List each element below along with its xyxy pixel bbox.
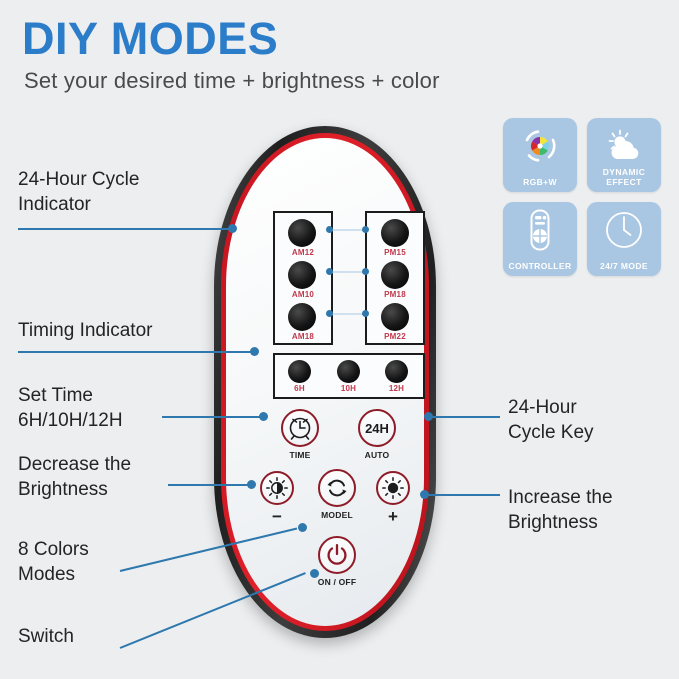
- callout-dot: [424, 412, 433, 421]
- panel-link-dot: [362, 226, 369, 233]
- callout-8-colors-modes: 8 Colors Modes: [18, 537, 233, 587]
- callout-dot: [228, 224, 237, 233]
- auto-24h-key[interactable]: 24H: [358, 409, 396, 447]
- callout-line: [18, 228, 233, 230]
- badge-label: 24/7 MODE: [587, 261, 661, 271]
- panel-link-dot: [362, 310, 369, 317]
- callout-dot: [259, 412, 268, 421]
- callout-24h-cycle-key: 24-Hour Cycle Key: [508, 395, 678, 445]
- remote-control-icon: [503, 209, 577, 251]
- duration-key-6h[interactable]: [288, 360, 311, 383]
- timer-key-am10[interactable]: [288, 261, 316, 289]
- badge-label: CONTROLLER: [503, 261, 577, 271]
- model-key-label: MODEL: [307, 510, 367, 520]
- feature-badge-group: RGB+W DYNAMIC EFFECT: [503, 118, 663, 280]
- panel-link-line: [329, 229, 365, 231]
- callout-line: [424, 494, 500, 496]
- mode-cycle-icon: [325, 476, 349, 500]
- timer-key-label: PM22: [367, 332, 423, 341]
- power-icon: [324, 542, 350, 568]
- brightness-up-icon: [381, 476, 405, 500]
- duration-panel: 6H 10H 12H: [273, 353, 425, 399]
- badge-rgbw: RGB+W: [503, 118, 577, 192]
- callout-dot: [298, 523, 307, 532]
- time-key[interactable]: [281, 409, 319, 447]
- callout-line: [162, 416, 264, 418]
- page-title: DIY MODES: [22, 16, 278, 61]
- panel-link-line: [329, 313, 365, 315]
- timer-key-am18[interactable]: [288, 303, 316, 331]
- duration-key-label: 12H: [376, 384, 417, 393]
- callout-dot: [420, 490, 429, 499]
- duration-key-12h[interactable]: [385, 360, 408, 383]
- remote-face: AM12 AM10 AM18 PM15 PM18 PM22: [226, 138, 424, 626]
- duration-key-10h[interactable]: [337, 360, 360, 383]
- badge-controller: CONTROLLER: [503, 202, 577, 276]
- panel-link-line: [329, 271, 365, 273]
- callout-line: [428, 416, 500, 418]
- callout-decrease-brightness: Decrease the Brightness: [18, 452, 233, 502]
- page-subtitle: Set your desired time + brightness + col…: [24, 68, 440, 94]
- callout-dot: [250, 347, 259, 356]
- callout-line: [168, 484, 252, 486]
- timer-key-label: AM10: [275, 290, 331, 299]
- timer-panel-right: PM15 PM18 PM22: [365, 211, 425, 345]
- panel-link-dot: [326, 226, 333, 233]
- timer-panel-left: AM12 AM10 AM18: [273, 211, 333, 345]
- badge-label: RGB+W: [503, 177, 577, 187]
- timer-key-pm18[interactable]: [381, 261, 409, 289]
- timer-key-label: PM18: [367, 290, 423, 299]
- callout-timing-indicator: Timing Indicator: [18, 318, 233, 343]
- infographic-canvas: DIY MODES Set your desired time + bright…: [0, 0, 679, 679]
- callout-line: [18, 351, 255, 353]
- timer-key-pm15[interactable]: [381, 219, 409, 247]
- badge-label: DYNAMIC EFFECT: [587, 167, 661, 187]
- brightness-down-icon: [265, 476, 289, 500]
- callout-24h-cycle-indicator: 24-Hour Cycle Indicator: [18, 167, 228, 217]
- badge-247-mode: 24/7 MODE: [587, 202, 661, 276]
- callout-dot: [310, 569, 319, 578]
- panel-link-dot: [362, 268, 369, 275]
- duration-key-label: 10H: [328, 384, 369, 393]
- time-key-label: TIME: [270, 450, 330, 460]
- color-wheel-icon: [503, 125, 577, 167]
- brightness-down-key[interactable]: [260, 471, 294, 505]
- panel-link-dot: [326, 268, 333, 275]
- timer-key-pm22[interactable]: [381, 303, 409, 331]
- callout-set-time: Set Time 6H/10H/12H: [18, 383, 233, 433]
- clock-icon: [587, 209, 661, 251]
- callout-dot: [247, 480, 256, 489]
- panel-link-dot: [326, 310, 333, 317]
- power-key-label: ON / OFF: [307, 577, 367, 587]
- timer-key-label: AM18: [275, 332, 331, 341]
- alarm-clock-icon: [287, 415, 313, 441]
- 24h-icon: 24H: [365, 421, 389, 436]
- auto-key-label: AUTO: [347, 450, 407, 460]
- badge-dynamic-effect: DYNAMIC EFFECT: [587, 118, 661, 192]
- timer-key-label: PM15: [367, 248, 423, 257]
- duration-key-label: 6H: [279, 384, 320, 393]
- callout-increase-brightness: Increase the Brightness: [508, 485, 678, 535]
- power-key[interactable]: [318, 536, 356, 574]
- model-key[interactable]: [318, 469, 356, 507]
- brightness-up-label: +: [363, 507, 423, 527]
- timer-key-am12[interactable]: [288, 219, 316, 247]
- remote-control: AM12 AM10 AM18 PM15 PM18 PM22: [214, 126, 436, 638]
- sun-cloud-icon: [587, 125, 661, 167]
- brightness-up-key[interactable]: [376, 471, 410, 505]
- timer-key-label: AM12: [275, 248, 331, 257]
